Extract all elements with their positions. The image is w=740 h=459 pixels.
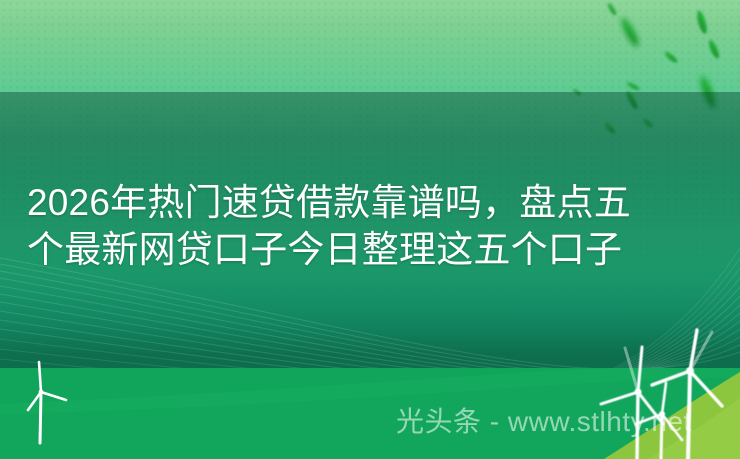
turbine-blade	[690, 371, 722, 406]
turbine-tower	[40, 392, 41, 443]
leaf-icon	[604, 121, 617, 135]
turbine-blade	[41, 392, 66, 400]
page-title: 2026年热门速贷借款靠谱吗，盘点五个最新网贷口子今日整理这五个口子	[27, 179, 715, 273]
leaf-icon	[663, 50, 679, 64]
leaf-icon	[698, 74, 718, 109]
leaf-icon	[695, 9, 709, 34]
turbine-blade	[652, 371, 690, 385]
leaf-icon	[625, 90, 640, 110]
turbine-blade	[601, 392, 638, 404]
turbine-blade	[39, 362, 41, 392]
headline-line-1: 2026年热门速贷借款靠谱吗，盘点五	[27, 182, 631, 223]
turbine-hub	[634, 388, 641, 395]
cover-image-canvas: 2026年热门速贷借款靠谱吗，盘点五个最新网贷口子今日整理这五个口子 光头条 -…	[0, 0, 740, 459]
turbine-blade	[638, 347, 642, 392]
leaf-icon	[642, 117, 654, 128]
turbine-blade	[690, 330, 697, 371]
leaf-icon	[707, 39, 721, 60]
leaf-icon	[572, 88, 582, 97]
site-watermark: 光头条 - www.stlhty.net	[396, 404, 692, 440]
turbine-hub	[39, 390, 44, 395]
turbine-hub	[686, 367, 694, 375]
leaf-icon	[606, 2, 617, 16]
turbine-blade-ghost	[690, 332, 712, 371]
turbine-blade-ghost	[625, 348, 638, 392]
leaf-icon	[619, 16, 642, 48]
bottom-wave-dark	[0, 367, 740, 404]
turbine-blade	[28, 392, 41, 410]
leaf-icon	[626, 81, 641, 92]
headline-line-2: 个最新网贷口子今日整理这五个口子	[27, 229, 622, 270]
